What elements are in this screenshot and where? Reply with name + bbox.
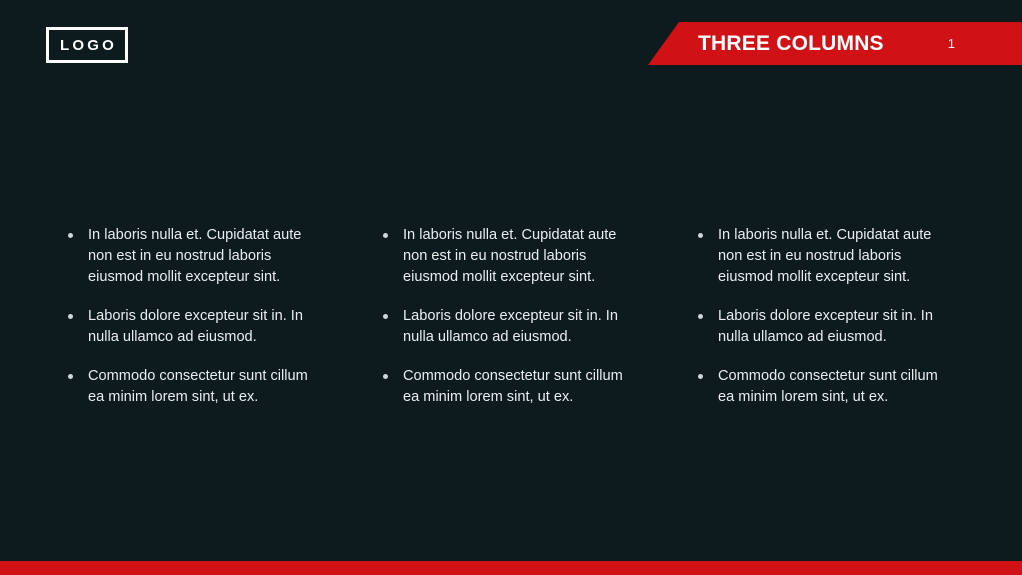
logo-badge: LOGO: [46, 27, 128, 63]
bullet-list: In laboris nulla et. Cupidatat aute non …: [67, 225, 317, 408]
bullet-dot-icon: [68, 314, 73, 319]
content-column-1: In laboris nulla et. Cupidatat aute non …: [67, 225, 317, 408]
content-column-2: In laboris nulla et. Cupidatat aute non …: [382, 225, 632, 408]
bullet-dot-icon: [383, 314, 388, 319]
list-item: Laboris dolore excepteur sit in. In null…: [382, 306, 632, 348]
bullet-list: In laboris nulla et. Cupidatat aute non …: [382, 225, 632, 408]
list-item: In laboris nulla et. Cupidatat aute non …: [697, 225, 947, 288]
footer-accent-bar: [0, 561, 1022, 575]
bullet-dot-icon: [68, 374, 73, 379]
bullet-dot-icon: [68, 233, 73, 238]
page-number: 1: [948, 36, 955, 51]
list-item-text: Laboris dolore excepteur sit in. In null…: [403, 308, 618, 345]
list-item-text: Commodo consectetur sunt cillum ea minim…: [88, 368, 308, 405]
bullet-dot-icon: [383, 374, 388, 379]
list-item-text: In laboris nulla et. Cupidatat aute non …: [718, 227, 931, 285]
list-item-text: In laboris nulla et. Cupidatat aute non …: [403, 227, 616, 285]
list-item-text: In laboris nulla et. Cupidatat aute non …: [88, 227, 301, 285]
bullet-dot-icon: [383, 233, 388, 238]
list-item-text: Commodo consectetur sunt cillum ea minim…: [403, 368, 623, 405]
three-column-content: In laboris nulla et. Cupidatat aute non …: [67, 225, 955, 408]
bullet-dot-icon: [698, 374, 703, 379]
bullet-dot-icon: [698, 314, 703, 319]
page-title: THREE COLUMNS: [698, 32, 884, 56]
list-item: Laboris dolore excepteur sit in. In null…: [67, 306, 317, 348]
list-item: Commodo consectetur sunt cillum ea minim…: [382, 366, 632, 408]
list-item: Commodo consectetur sunt cillum ea minim…: [67, 366, 317, 408]
list-item-text: Commodo consectetur sunt cillum ea minim…: [718, 368, 938, 405]
slide-canvas: LOGO THREE COLUMNS 1 In laboris nulla et…: [0, 0, 1022, 575]
list-item: Commodo consectetur sunt cillum ea minim…: [697, 366, 947, 408]
list-item-text: Laboris dolore excepteur sit in. In null…: [88, 308, 303, 345]
title-banner: THREE COLUMNS 1: [648, 22, 1022, 65]
logo-text: LOGO: [57, 38, 117, 53]
content-column-3: In laboris nulla et. Cupidatat aute non …: [697, 225, 947, 408]
bullet-list: In laboris nulla et. Cupidatat aute non …: [697, 225, 947, 408]
list-item: Laboris dolore excepteur sit in. In null…: [697, 306, 947, 348]
list-item: In laboris nulla et. Cupidatat aute non …: [67, 225, 317, 288]
list-item: In laboris nulla et. Cupidatat aute non …: [382, 225, 632, 288]
list-item-text: Laboris dolore excepteur sit in. In null…: [718, 308, 933, 345]
bullet-dot-icon: [698, 233, 703, 238]
